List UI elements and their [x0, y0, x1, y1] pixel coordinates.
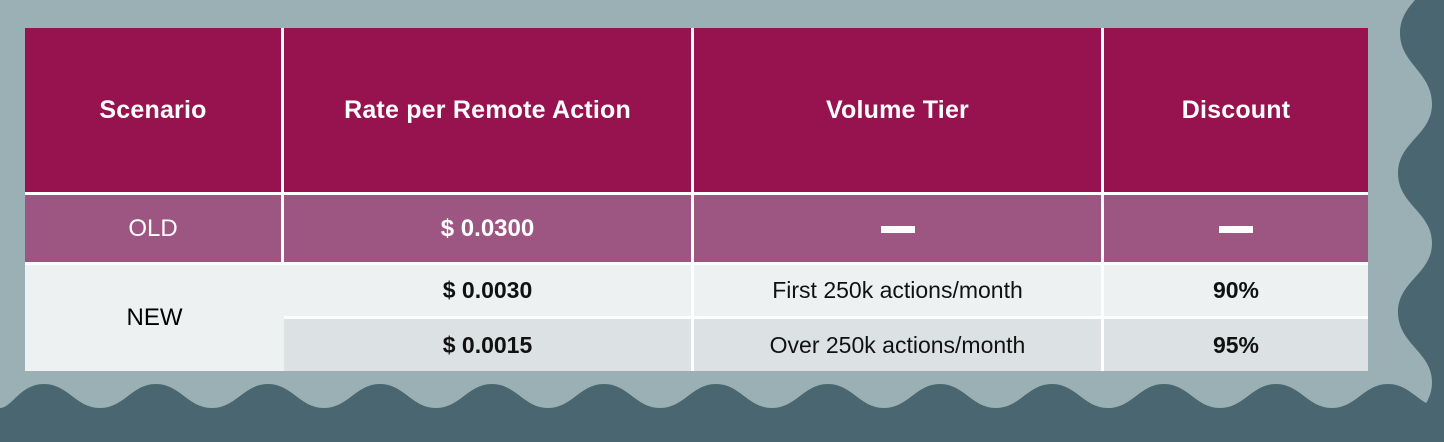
column-header-discount: Discount	[1104, 28, 1368, 195]
dash-mark-icon	[1219, 226, 1253, 233]
cell-scenario-new: NEW	[25, 265, 284, 371]
cell-volume-tier-new-tier-1: First 250k actions/month	[694, 265, 1104, 319]
cell-discount-new-tier-2: 95%	[1104, 319, 1368, 371]
cell-rate-old: $ 0.0300	[284, 195, 694, 265]
cell-discount-old	[1104, 195, 1368, 265]
dash-mark-icon	[881, 226, 915, 233]
pricing-table: Scenario Rate per Remote Action Volume T…	[25, 28, 1368, 371]
column-header-volume-tier: Volume Tier	[694, 28, 1104, 195]
bottom-scallop-wave-icon	[0, 384, 1444, 442]
column-header-scenario: Scenario	[25, 28, 284, 195]
cell-rate-new-tier-1: $ 0.0030	[284, 265, 694, 319]
cell-discount-new-tier-1: 90%	[1104, 265, 1368, 319]
cell-volume-tier-new-tier-2: Over 250k actions/month	[694, 319, 1104, 371]
pricing-table-container: Scenario Rate per Remote Action Volume T…	[25, 28, 1368, 370]
table-row-old: OLD $ 0.0300	[25, 195, 1368, 265]
cell-rate-new-tier-2: $ 0.0015	[284, 319, 694, 371]
table-header-row: Scenario Rate per Remote Action Volume T…	[25, 28, 1368, 195]
cell-scenario-old: OLD	[25, 195, 284, 265]
right-edge-wave-icon	[1398, 0, 1444, 442]
column-header-rate: Rate per Remote Action	[284, 28, 694, 195]
cell-volume-tier-old	[694, 195, 1104, 265]
table-row-new-tier-1: NEW $ 0.0030 First 250k actions/month 90…	[25, 265, 1368, 319]
